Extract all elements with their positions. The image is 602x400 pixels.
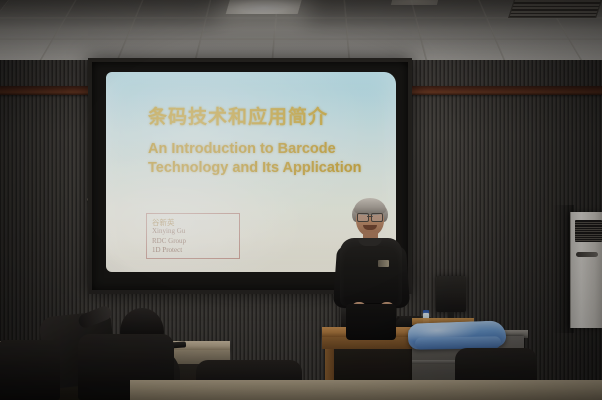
ac-grille-slat [575, 231, 602, 232]
slide-credit-box: 谷新英 Xinying Gu RDC Group 1D Protect [146, 213, 240, 259]
front-row-desk [130, 380, 602, 400]
ac-grille-slat [575, 234, 602, 235]
presenter-glasses-icon [357, 213, 383, 220]
ac-grille-slat [575, 240, 602, 241]
credit-name-english: Xinying Gu [147, 227, 239, 236]
ac-grille-slat [575, 236, 602, 237]
sweater-logo-patch [378, 260, 389, 267]
credit-project: 1D Protect [147, 246, 239, 255]
credit-name-chinese: 谷新英 [147, 214, 239, 227]
ceiling [0, 0, 602, 66]
slide-subtitle-english: An Introduction to Barcode Technology an… [148, 140, 368, 178]
presenter-legs [346, 304, 396, 340]
presenter [330, 198, 412, 338]
computer-monitor [436, 276, 466, 312]
presenter-torso [340, 238, 402, 306]
slide-title-chinese: 条码技术和应用简介 [148, 102, 328, 129]
credit-group: RDC Group [147, 237, 239, 246]
ac-grille-slat [575, 227, 602, 228]
ac-grille-slat [575, 238, 602, 239]
lecture-hall-photo: 条码技术和应用简介 An Introduction to Barcode Tec… [0, 0, 602, 400]
glasses-lens-left [357, 213, 369, 222]
ceiling-shading [0, 0, 602, 66]
air-conditioner-unit [570, 212, 602, 328]
ac-grille-icon [575, 220, 602, 242]
glasses-lens-right [371, 213, 383, 222]
ac-badge [576, 252, 598, 257]
ac-grille-slat [575, 229, 602, 230]
chair-front-left [0, 340, 60, 400]
ac-grille-slat [575, 224, 602, 225]
ac-grille-slat [575, 222, 602, 223]
